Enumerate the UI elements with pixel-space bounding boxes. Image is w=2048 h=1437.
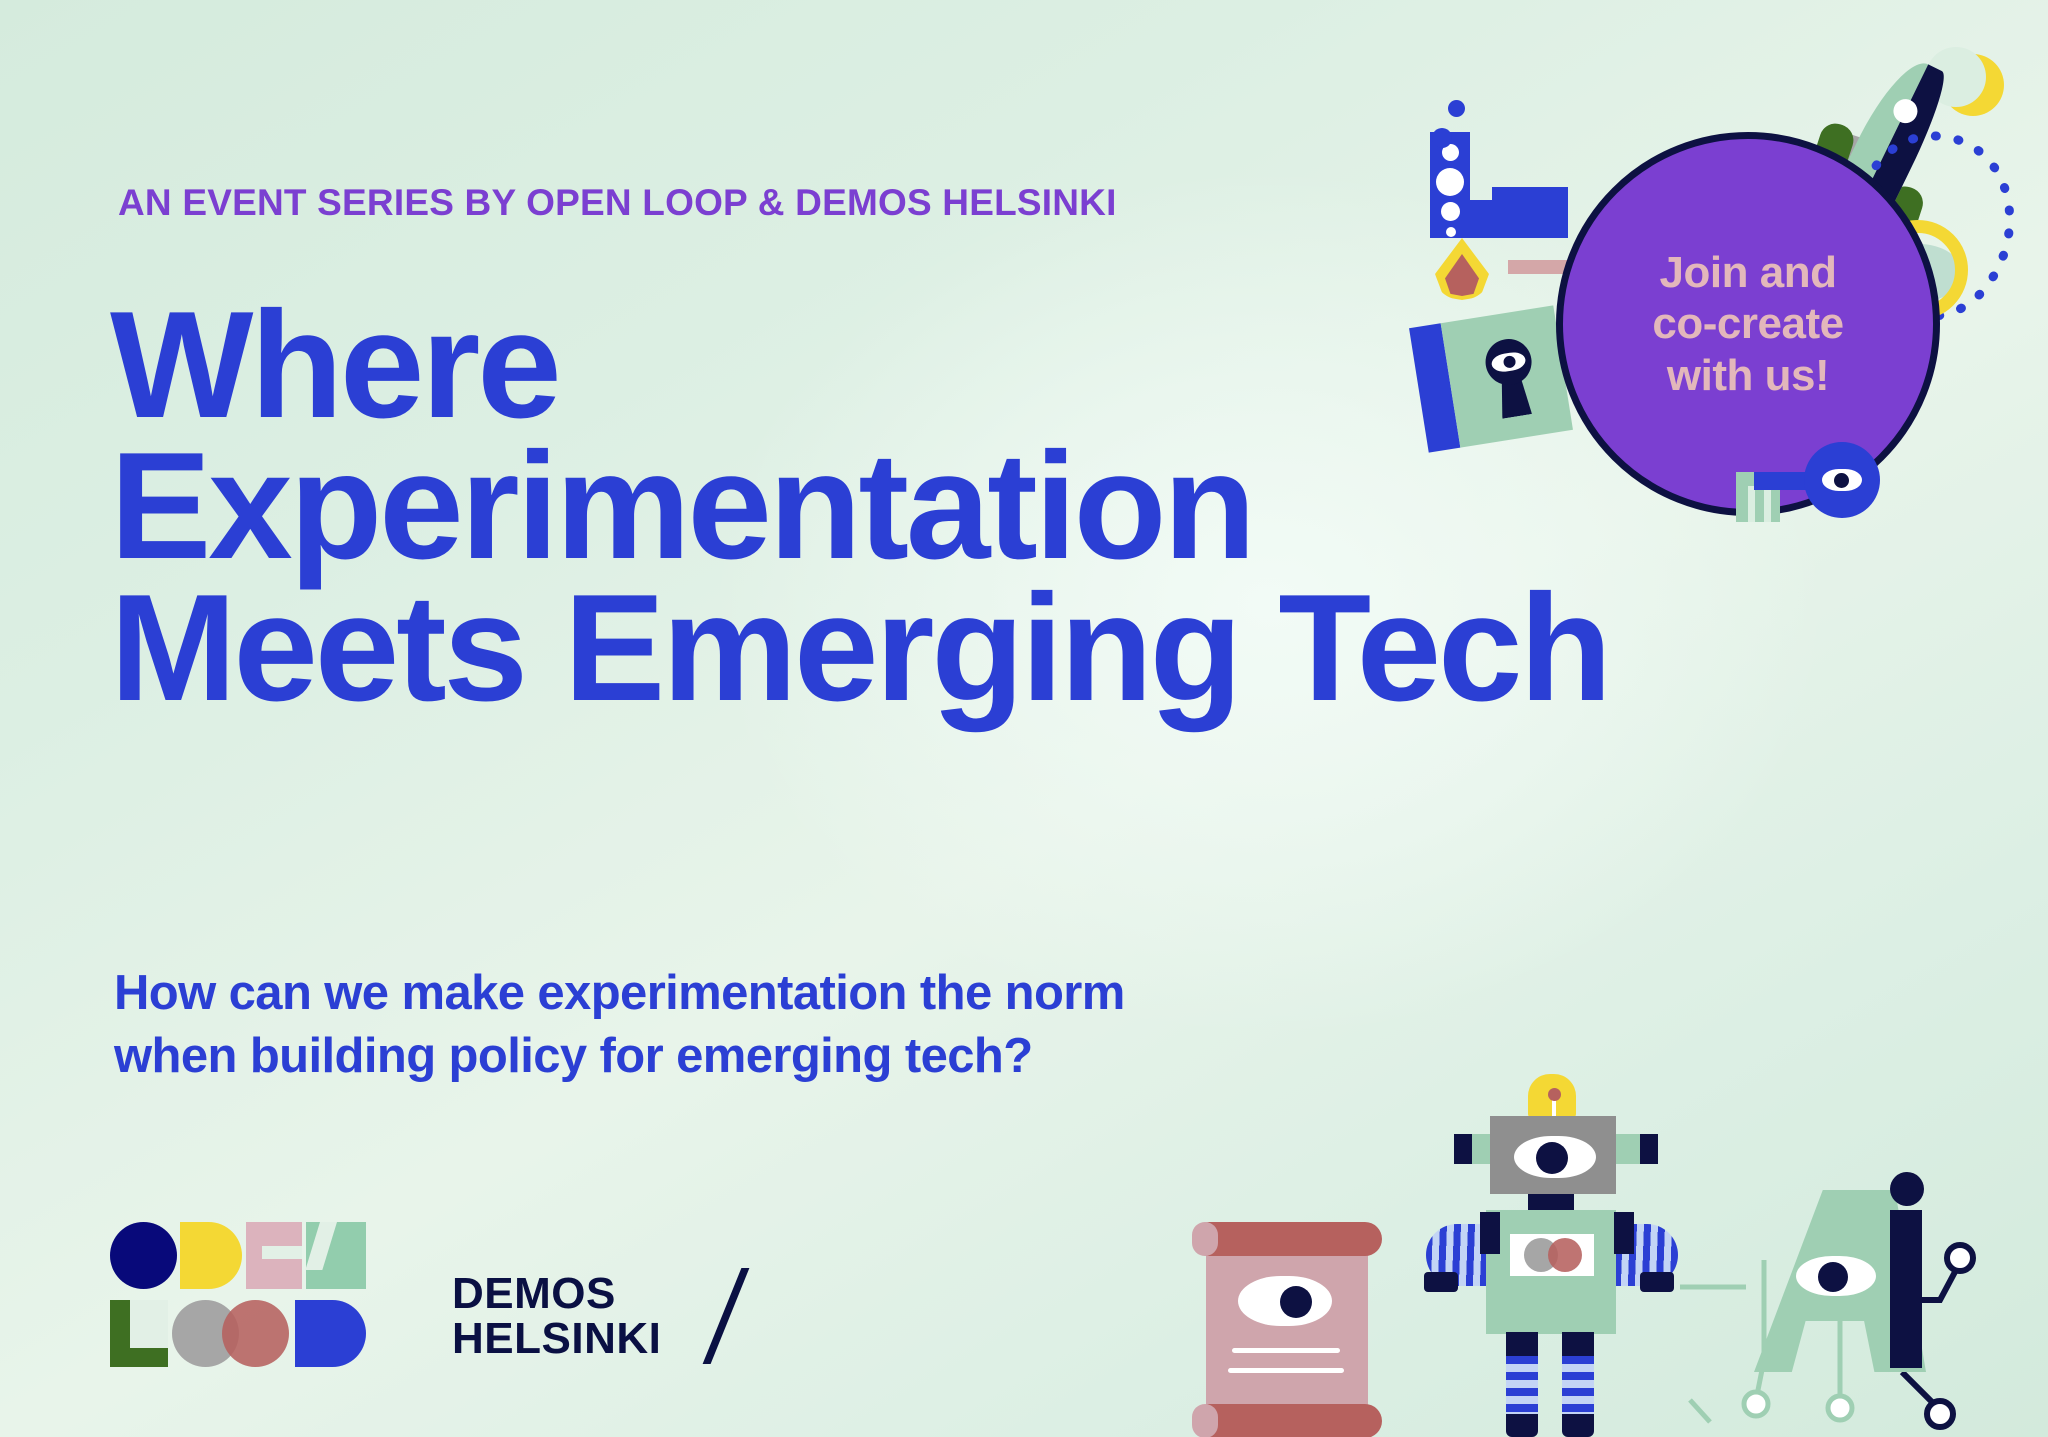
- page-title: Where Experimentation Meets Emerging Tec…: [110, 295, 1930, 719]
- subtitle-line-2: when building policy for emerging tech?: [114, 1025, 1125, 1088]
- bubble-dot-icon: [1448, 100, 1465, 117]
- ai-letterform-icon: [1746, 1172, 2048, 1437]
- demos-helsinki-logo: DEMOS HELSINKI: [452, 1272, 661, 1362]
- headline-line-3: Meets Emerging Tech: [110, 578, 1930, 719]
- logo-letter-o: [222, 1300, 289, 1367]
- headline-line-2: Experimentation: [110, 436, 1930, 577]
- scroll-eye-icon: [1192, 1212, 1382, 1437]
- demos-logo-line-2: HELSINKI: [452, 1317, 661, 1362]
- logo-letter-n: [306, 1222, 366, 1289]
- page-subtitle: How can we make experimentation the norm…: [114, 962, 1125, 1087]
- headline-line-1: Where: [110, 295, 1930, 436]
- demos-slash-icon: [703, 1268, 750, 1364]
- logo-letter-e: [246, 1222, 302, 1289]
- logo-letter-p: [295, 1300, 366, 1367]
- open-loop-logo-line-2: [110, 1300, 366, 1367]
- subtitle-line-1: How can we make experimentation the norm: [114, 962, 1125, 1025]
- badge-line-1: Join and: [1660, 247, 1837, 298]
- robot-icon: [1424, 1074, 1674, 1437]
- logo-letter-o: [110, 1222, 177, 1289]
- open-loop-logo: [110, 1222, 366, 1367]
- event-poster: Join and co-create with us! AN EVENT SER…: [0, 0, 2048, 1437]
- bottom-right-illustration-cluster: [1150, 1060, 2048, 1437]
- droplet-icon: [1435, 238, 1489, 300]
- open-loop-logo-line-1: [110, 1222, 366, 1289]
- event-series-eyebrow: AN EVENT SERIES BY OPEN LOOP & DEMOS HEL…: [118, 182, 1117, 224]
- logo-letter-l: [110, 1300, 168, 1367]
- logo-letter-p: [180, 1222, 242, 1289]
- flask-icon: [1430, 132, 1568, 238]
- bubble-dot-icon: [1432, 128, 1452, 148]
- robot-bulb-icon: [1528, 1074, 1576, 1118]
- demos-logo-line-1: DEMOS: [452, 1272, 661, 1317]
